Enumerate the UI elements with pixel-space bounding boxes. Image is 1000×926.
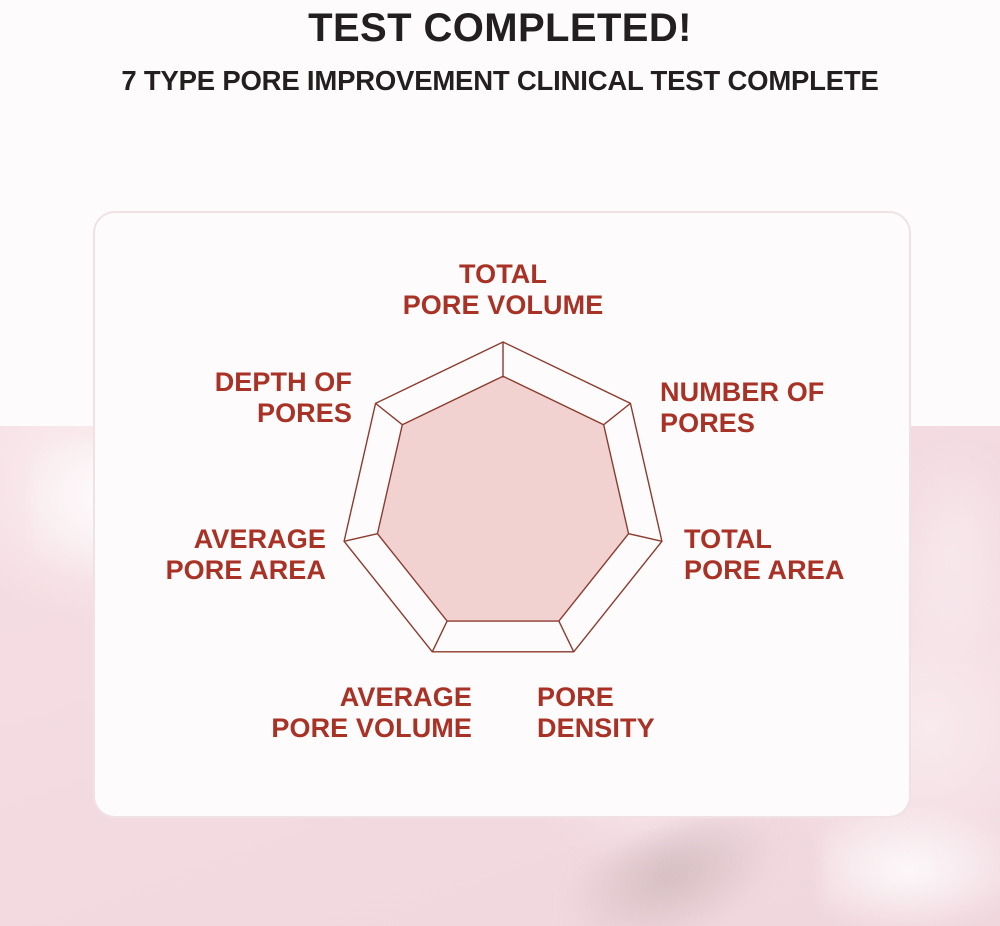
radar-spoke-1 <box>604 403 631 424</box>
header: TEST COMPLETED! 7 TYPE PORE IMPROVEMENT … <box>0 0 1000 96</box>
radar-spoke-4 <box>432 621 447 652</box>
radar-spoke-6 <box>376 403 403 424</box>
radar-series-polygon <box>377 376 628 621</box>
axis-label-depth-of-pores: DEPTH OF PORES <box>215 367 352 430</box>
background-highlight-bottom-right <box>820 800 1000 926</box>
radar-spoke-5 <box>344 534 377 542</box>
radar-series-group <box>377 376 628 621</box>
axis-label-pore-density: PORE DENSITY <box>537 682 655 745</box>
axis-label-total-pore-volume: TOTAL PORE VOLUME <box>403 259 604 322</box>
axis-label-number-of-pores: NUMBER OF PORES <box>660 377 824 440</box>
infographic-page: TEST COMPLETED! 7 TYPE PORE IMPROVEMENT … <box>0 0 1000 926</box>
axis-label-total-pore-area: TOTAL PORE AREA <box>684 524 844 587</box>
radar-spoke-3 <box>559 621 574 652</box>
page-title: TEST COMPLETED! <box>0 0 1000 51</box>
page-subtitle: 7 TYPE PORE IMPROVEMENT CLINICAL TEST CO… <box>0 51 1000 97</box>
radar-spoke-2 <box>629 534 662 542</box>
axis-label-average-pore-area: AVERAGE PORE AREA <box>166 524 326 587</box>
axis-label-average-pore-volume: AVERAGE PORE VOLUME <box>271 682 472 745</box>
